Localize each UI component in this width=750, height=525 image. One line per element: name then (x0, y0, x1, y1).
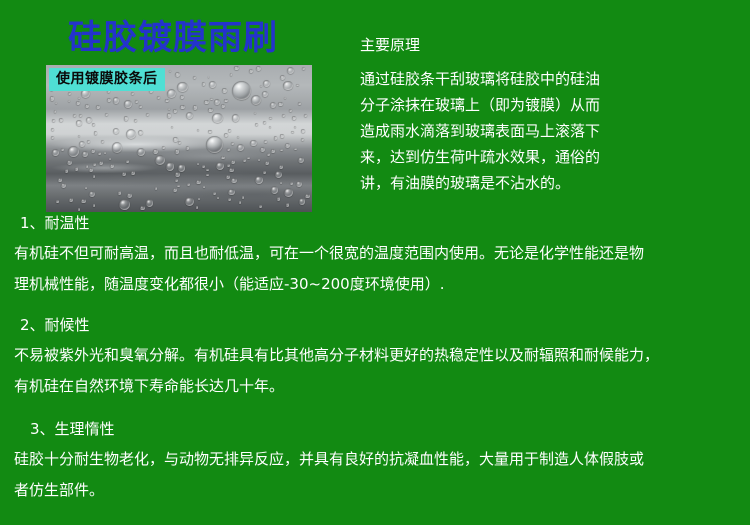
water-droplet (175, 172, 179, 176)
water-droplet (280, 182, 282, 184)
water-droplet (280, 134, 283, 137)
water-droplet (247, 157, 249, 159)
water-droplet (262, 91, 268, 97)
water-droplet (289, 109, 292, 112)
water-droplet (230, 73, 232, 75)
water-droplet (92, 123, 95, 126)
water-droplet (52, 119, 55, 122)
product-detail-page: 硅胶镀膜雨刷 使用镀膜胶条后 主要原理 通过硅胶条干刮玻璃将硅胶中的硅油分子涂抹… (0, 0, 750, 525)
water-droplet (153, 149, 158, 154)
water-droplet (124, 116, 128, 120)
water-droplet (255, 176, 263, 184)
water-droplet (274, 136, 277, 139)
water-droplet (124, 100, 132, 108)
water-droplet (107, 98, 111, 102)
water-droplet (82, 151, 88, 157)
water-droplet (231, 178, 237, 184)
water-droplet (227, 164, 230, 167)
water-droplet (178, 164, 186, 172)
water-droplet (93, 163, 96, 166)
page-title: 硅胶镀膜雨刷 (68, 18, 278, 58)
water-droplet (91, 149, 95, 153)
feature-section: 2、耐候性不易被紫外光和臭氧分解。有机硅具有比其他高分子材料更好的热稳定性以及耐… (0, 310, 750, 402)
principle-line: 造成雨水滴落到玻璃表面马上滚落下 (360, 118, 740, 144)
water-droplet (78, 135, 80, 137)
water-droplet (85, 187, 87, 189)
water-droplet (296, 84, 298, 86)
water-droplet (175, 149, 179, 153)
water-droplet (304, 114, 307, 117)
water-droplet (104, 152, 106, 154)
feature-section: 1、耐温性有机硅不但可耐高温，而且也耐低温，可在一个很宽的温度范围内使用。无论是… (0, 208, 750, 300)
water-droplet (242, 196, 244, 198)
water-droplet (76, 120, 82, 126)
water-droplet (51, 128, 54, 131)
water-droplet (299, 198, 305, 204)
water-droplet (113, 128, 119, 134)
water-droplet (232, 114, 239, 121)
water-droplet (229, 168, 233, 172)
water-droplet (167, 113, 171, 117)
water-droplet (278, 102, 282, 106)
water-droplet (177, 82, 188, 93)
water-droplet (167, 89, 176, 98)
water-droplet (250, 140, 257, 147)
water-droplet (221, 156, 224, 159)
water-droplet (131, 171, 135, 175)
water-droplet (228, 198, 231, 201)
water-droplet (168, 108, 170, 110)
feature-body: 不易被紫外光和臭氧分解。有机硅具有比其他高分子材料更好的热稳定性以及耐辐照和耐候… (14, 340, 738, 402)
water-droplet (305, 194, 309, 198)
water-droplet (180, 95, 184, 99)
feature-sections: 1、耐温性有机硅不但可耐高温，而且也耐低温，可在一个很宽的温度范围内使用。无论是… (0, 208, 750, 506)
water-droplet (58, 178, 62, 182)
water-droplet (251, 95, 261, 105)
feature-heading: 2、耐候性 (14, 310, 738, 340)
water-droplet (67, 160, 72, 165)
water-droplet (290, 182, 293, 185)
feature-line: 硅胶十分耐生物老化，与动物无排异反应，并具有良好的抗凝血性能，大量用于制造人体假… (14, 444, 738, 475)
water-droplet (178, 141, 181, 144)
water-droplet (61, 183, 66, 188)
water-droplet (228, 129, 230, 131)
water-droplet (126, 160, 129, 163)
feature-line: 有机硅在自然环境下寿命能长达几十年。 (14, 371, 738, 402)
water-droplet (171, 126, 173, 128)
water-droplet (54, 110, 56, 112)
water-droplet (208, 130, 212, 134)
water-droplet (237, 136, 239, 138)
water-droplet (112, 142, 122, 152)
water-droplet (173, 137, 177, 141)
principle-line: 讲，有油膜的玻璃是不沾水的。 (360, 170, 740, 196)
water-droplet (202, 82, 205, 85)
photo-caption-label: 使用镀膜胶条后 (49, 68, 165, 91)
product-photo: 使用镀膜胶条后 (46, 65, 312, 212)
principle-line: 通过硅胶条干刮玻璃将硅胶中的硅油 (360, 66, 740, 92)
principle-line: 分子涂抹在玻璃上（即为镀膜）从而 (360, 92, 740, 118)
water-droplet (206, 174, 208, 176)
water-droplet (204, 100, 209, 105)
water-droplet (78, 97, 80, 99)
water-droplet (203, 186, 205, 188)
water-droplet (209, 81, 215, 87)
water-droplet (294, 126, 296, 128)
water-droplet (87, 140, 90, 143)
water-droplet (93, 204, 95, 206)
feature-line: 不易被紫外光和臭氧分解。有机硅具有比其他高分子材料更好的热稳定性以及耐辐照和耐候… (14, 340, 738, 371)
water-droplet (68, 146, 79, 157)
water-droplet (155, 155, 165, 165)
water-droplet (52, 149, 58, 155)
water-droplet (61, 148, 64, 151)
water-droplet (197, 163, 199, 165)
water-droplet (93, 175, 95, 177)
feature-section: 3、生理惰性硅胶十分耐生物老化，与动物无排异反应，并具有良好的抗凝血性能，大量用… (0, 414, 750, 506)
water-droplet (224, 99, 228, 103)
water-droplet (155, 187, 158, 190)
water-droplet (216, 162, 224, 170)
feature-heading: 1、耐温性 (14, 208, 738, 238)
principle-line: 来，达到仿生荷叶疏水效果，通俗的 (360, 144, 740, 170)
water-droplet (198, 198, 200, 200)
water-droplet (177, 185, 179, 187)
water-droplet (284, 188, 293, 197)
water-droplet (298, 102, 301, 105)
water-droplet (68, 92, 71, 95)
water-droplet (226, 175, 230, 179)
water-droplet (217, 197, 219, 199)
water-droplet (264, 140, 267, 143)
feature-body: 硅胶十分耐生物老化，与动物无排异反应，并具有良好的抗凝血性能，大量用于制造人体假… (14, 444, 738, 506)
water-droplet (135, 100, 138, 103)
water-droplet (169, 70, 171, 72)
water-droplet (113, 97, 119, 103)
water-droplet (186, 112, 193, 119)
feature-body: 有机硅不但可耐高温，而且也耐低温，可在一个很宽的温度范围内使用。无论是化学性能还… (14, 238, 738, 300)
water-droplet (222, 88, 227, 93)
water-droplet (59, 118, 63, 122)
principle-block: 主要原理 通过硅胶条干刮玻璃将硅胶中的硅油分子涂抹在玻璃上（即为镀膜）从而造成雨… (360, 38, 740, 196)
water-droplet (286, 203, 289, 206)
water-droplet (166, 162, 174, 170)
water-droplet (234, 66, 238, 70)
feature-heading: 3、生理惰性 (14, 414, 738, 444)
principle-body: 通过硅胶条干刮玻璃将硅胶中的硅油分子涂抹在玻璃上（即为镀膜）从而造成雨水滴落到玻… (360, 66, 740, 196)
feature-line: 者仿生部件。 (14, 475, 738, 506)
water-droplet (162, 146, 165, 149)
feature-line: 有机硅不但可耐高温，而且也耐低温，可在一个很宽的温度范围内使用。无论是化学性能还… (14, 238, 738, 269)
water-droplet (126, 129, 136, 139)
water-droplet (212, 113, 222, 123)
water-droplet (271, 186, 278, 193)
water-droplet (173, 109, 177, 113)
principle-heading: 主要原理 (360, 38, 740, 53)
water-droplet (271, 149, 274, 152)
feature-line: 理机械性能，随温度变化都很小（能适应-30~200度环境使用）. (14, 269, 738, 300)
